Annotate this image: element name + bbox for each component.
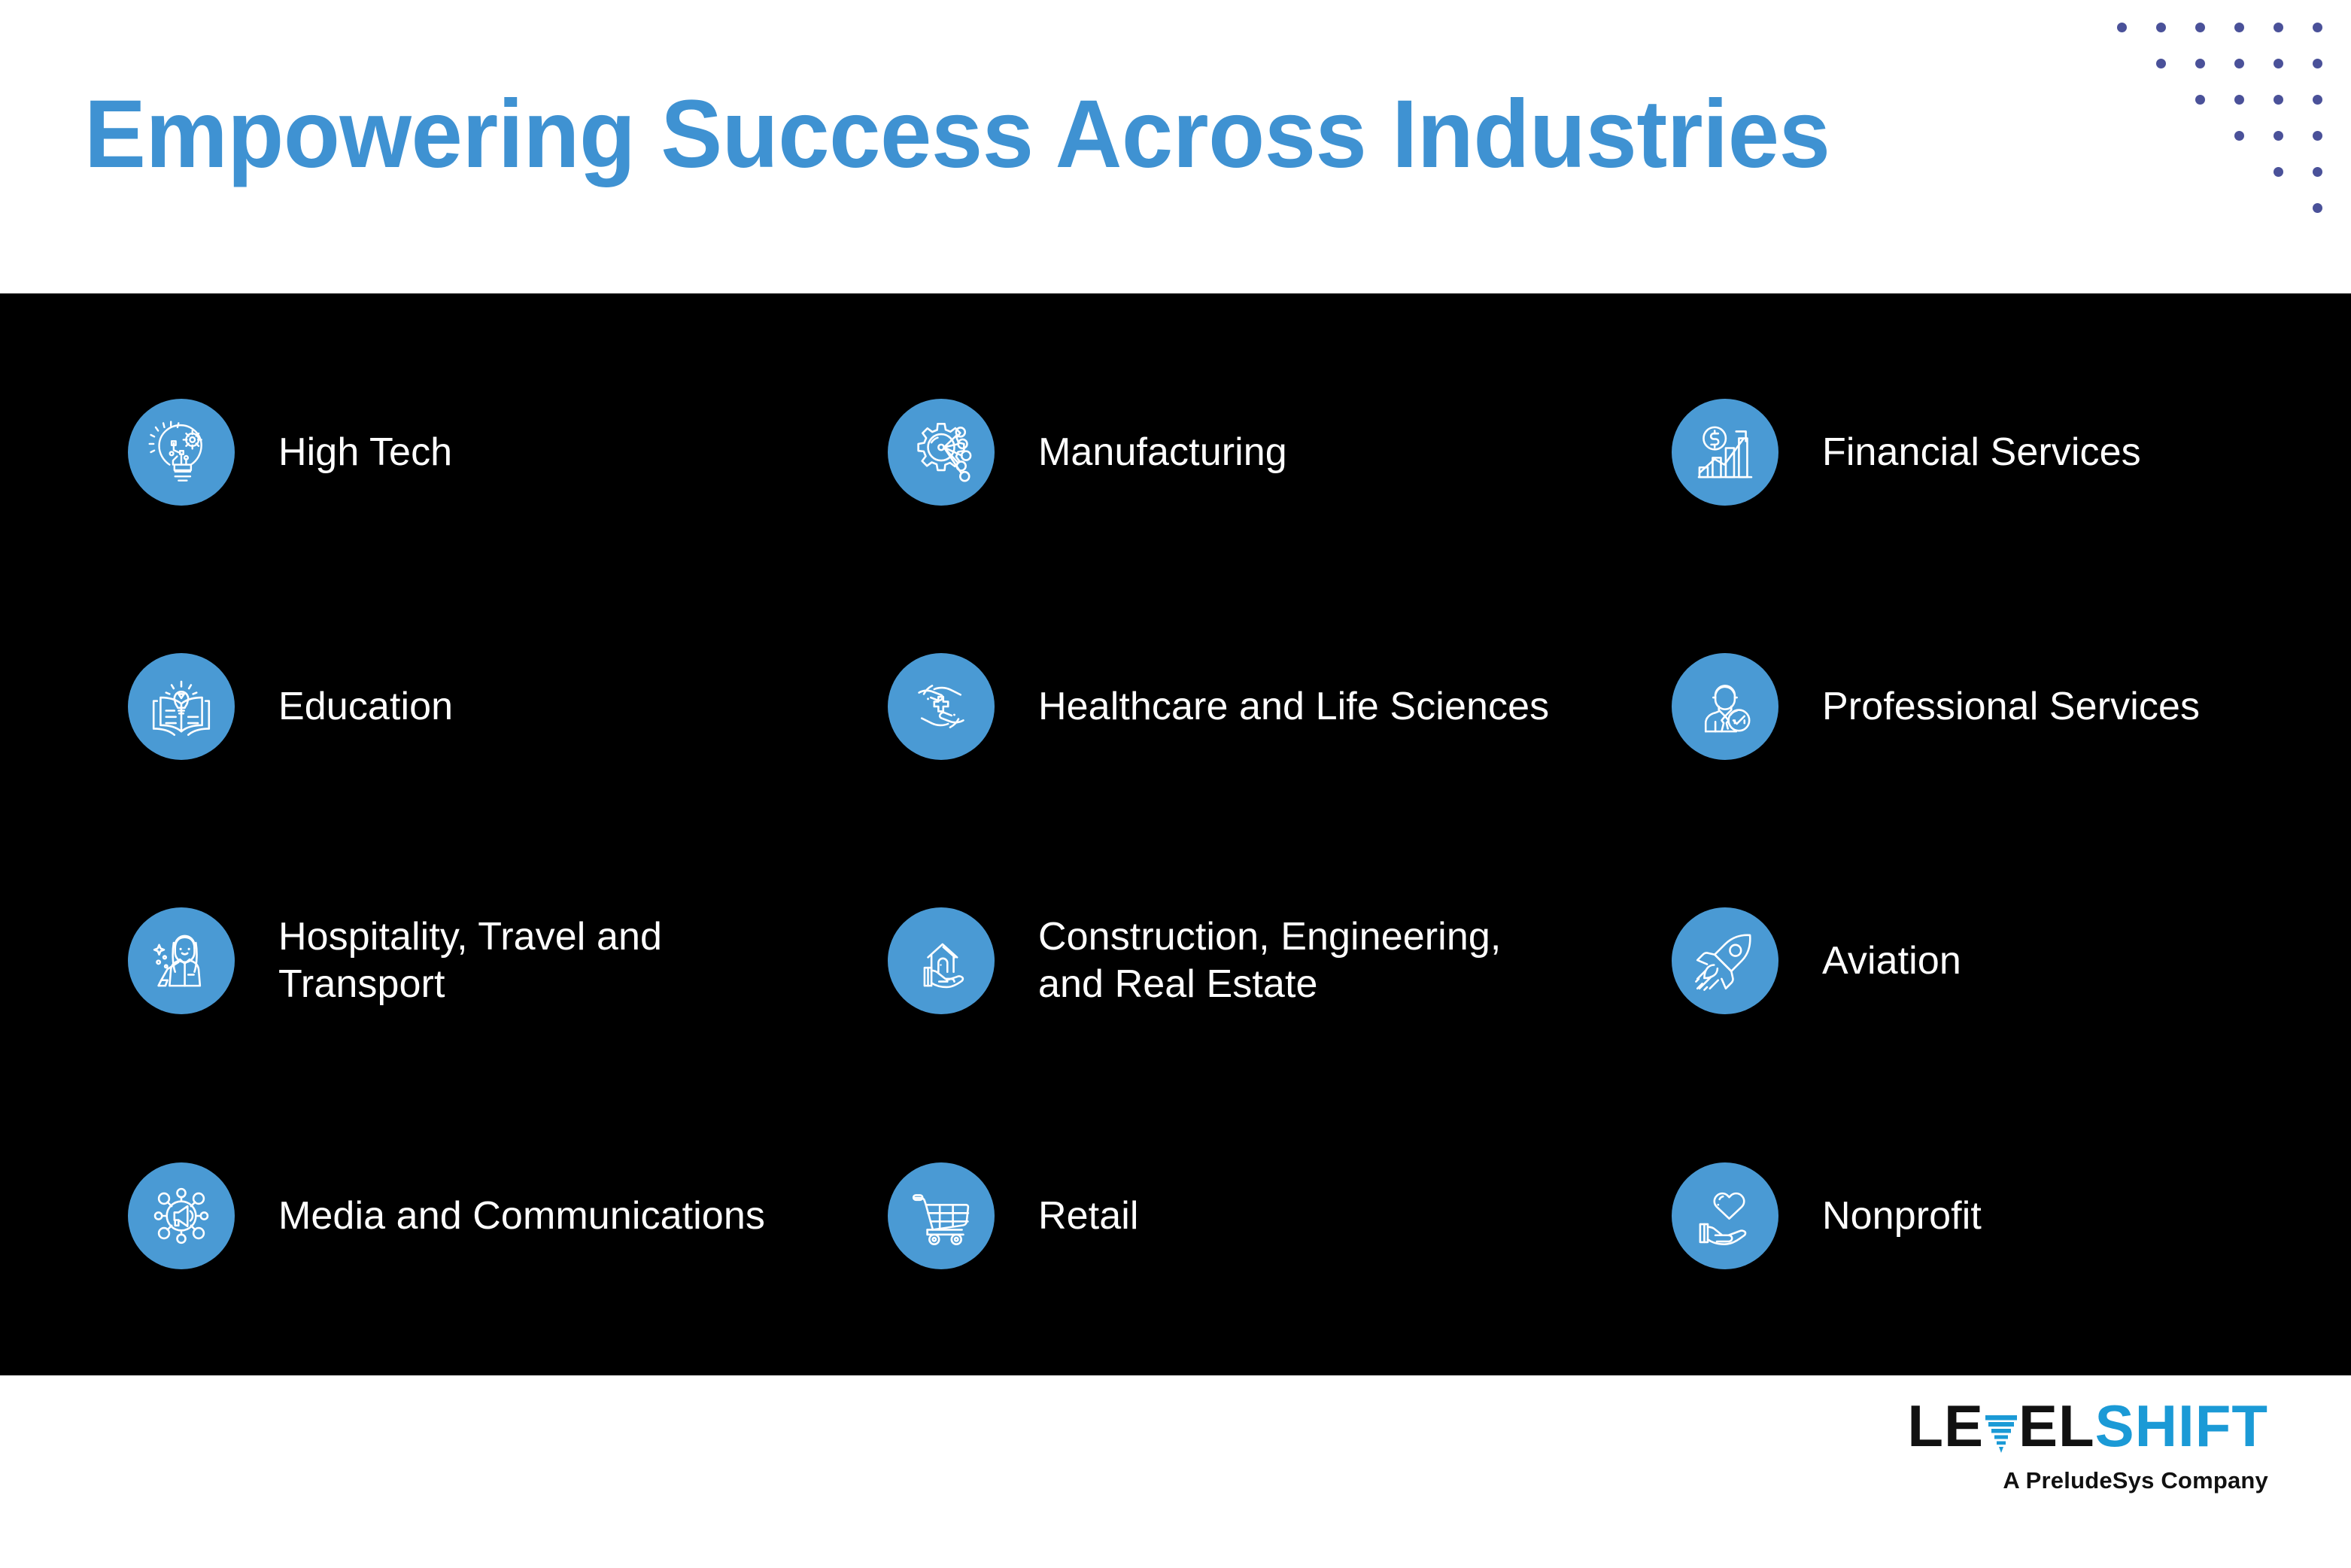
dot (2195, 59, 2205, 68)
dot (2234, 131, 2244, 141)
hand-holding-house-icon (888, 907, 995, 1014)
dot (2234, 95, 2244, 105)
dot (2313, 59, 2322, 68)
footer-bar: LE EL SHIFT A PreludeSys Company (0, 1375, 2351, 1568)
industry-label: High Tech (278, 429, 452, 476)
industry-label: Construction, Engineering, and Real Esta… (1038, 913, 1501, 1008)
dot (2274, 23, 2283, 32)
dot (2156, 23, 2166, 32)
levelshift-logo[interactable]: LE EL SHIFT A PreludeSys Company (1907, 1396, 2268, 1494)
hospitality-attendant-icon (128, 907, 235, 1014)
lightbulb-gear-circuit-icon (128, 399, 235, 506)
industry-label: Healthcare and Life Sciences (1038, 683, 1549, 731)
industry-item-healthcare[interactable]: Healthcare and Life Sciences (888, 653, 1549, 760)
industry-item-manufacturing[interactable]: Manufacturing (888, 399, 1287, 506)
industry-item-financial-services[interactable]: Financial Services (1672, 399, 2141, 506)
industry-label: Nonprofit (1822, 1193, 1982, 1240)
logo-wordmark: LE EL SHIFT (1907, 1396, 2268, 1455)
dot (2313, 203, 2322, 213)
industry-item-aviation[interactable]: Aviation (1672, 907, 1961, 1014)
industry-item-education[interactable]: Education (128, 653, 453, 760)
dot-row (2142, 95, 2322, 105)
industry-item-media[interactable]: Media and Communications (128, 1162, 765, 1269)
dot (2195, 23, 2205, 32)
dot (2234, 59, 2244, 68)
dot (2313, 167, 2322, 177)
bar-chart-dollar-growth-icon (1672, 399, 1778, 506)
dot-row (2142, 59, 2322, 68)
open-book-lightbulb-icon (128, 653, 235, 760)
industries-grid: High Tech Manufacturing (0, 293, 2351, 1375)
dot (2234, 23, 2244, 32)
industry-label: Professional Services (1822, 683, 2200, 731)
megaphone-network-icon (128, 1162, 235, 1269)
industry-item-construction[interactable]: Construction, Engineering, and Real Esta… (888, 907, 1501, 1014)
industry-label: Retail (1038, 1193, 1139, 1240)
industry-label: Hospitality, Travel and Transport (278, 913, 662, 1008)
gear-network-icon (888, 399, 995, 506)
industry-item-professional-services[interactable]: Professional Services (1672, 653, 2200, 760)
hands-medical-cross-icon (888, 653, 995, 760)
page-title: Empowering Success Across Industries (84, 87, 1830, 183)
dot (2274, 131, 2283, 141)
businessperson-check-badge-icon (1672, 653, 1778, 760)
logo-tagline: A PreludeSys Company (1907, 1467, 2268, 1494)
dot (2117, 23, 2127, 32)
dot (2274, 95, 2283, 105)
industry-label: Aviation (1822, 937, 1961, 985)
rocket-icon (1672, 907, 1778, 1014)
dot (2195, 95, 2205, 105)
industry-label: Education (278, 683, 453, 731)
logo-text-shift: SHIFT (2095, 1396, 2268, 1455)
industry-item-high-tech[interactable]: High Tech (128, 399, 452, 506)
dot (2313, 131, 2322, 141)
dot-row (2142, 23, 2322, 32)
dot (2156, 59, 2166, 68)
industry-item-retail[interactable]: Retail (888, 1162, 1139, 1269)
header-bar: Empowering Success Across Industries (0, 0, 2351, 293)
industry-item-hospitality[interactable]: Hospitality, Travel and Transport (128, 907, 662, 1014)
triangular-dot-pattern (2142, 23, 2322, 211)
striped-funnel-icon (1985, 1406, 2018, 1448)
dot (2274, 167, 2283, 177)
logo-text-el: EL (2018, 1396, 2095, 1455)
dot-row (2142, 131, 2322, 141)
dot (2274, 59, 2283, 68)
dot (2313, 23, 2322, 32)
hand-holding-heart-icon (1672, 1162, 1778, 1269)
industry-label: Financial Services (1822, 429, 2141, 476)
industry-item-nonprofit[interactable]: Nonprofit (1672, 1162, 1982, 1269)
industry-label: Media and Communications (278, 1193, 765, 1240)
dot-row (2142, 167, 2322, 177)
shopping-cart-icon (888, 1162, 995, 1269)
industry-label: Manufacturing (1038, 429, 1287, 476)
dot-row (2142, 203, 2322, 213)
industries-panel: High Tech Manufacturing (0, 293, 2351, 1375)
dot (2313, 95, 2322, 105)
logo-text-le: LE (1907, 1396, 1984, 1455)
